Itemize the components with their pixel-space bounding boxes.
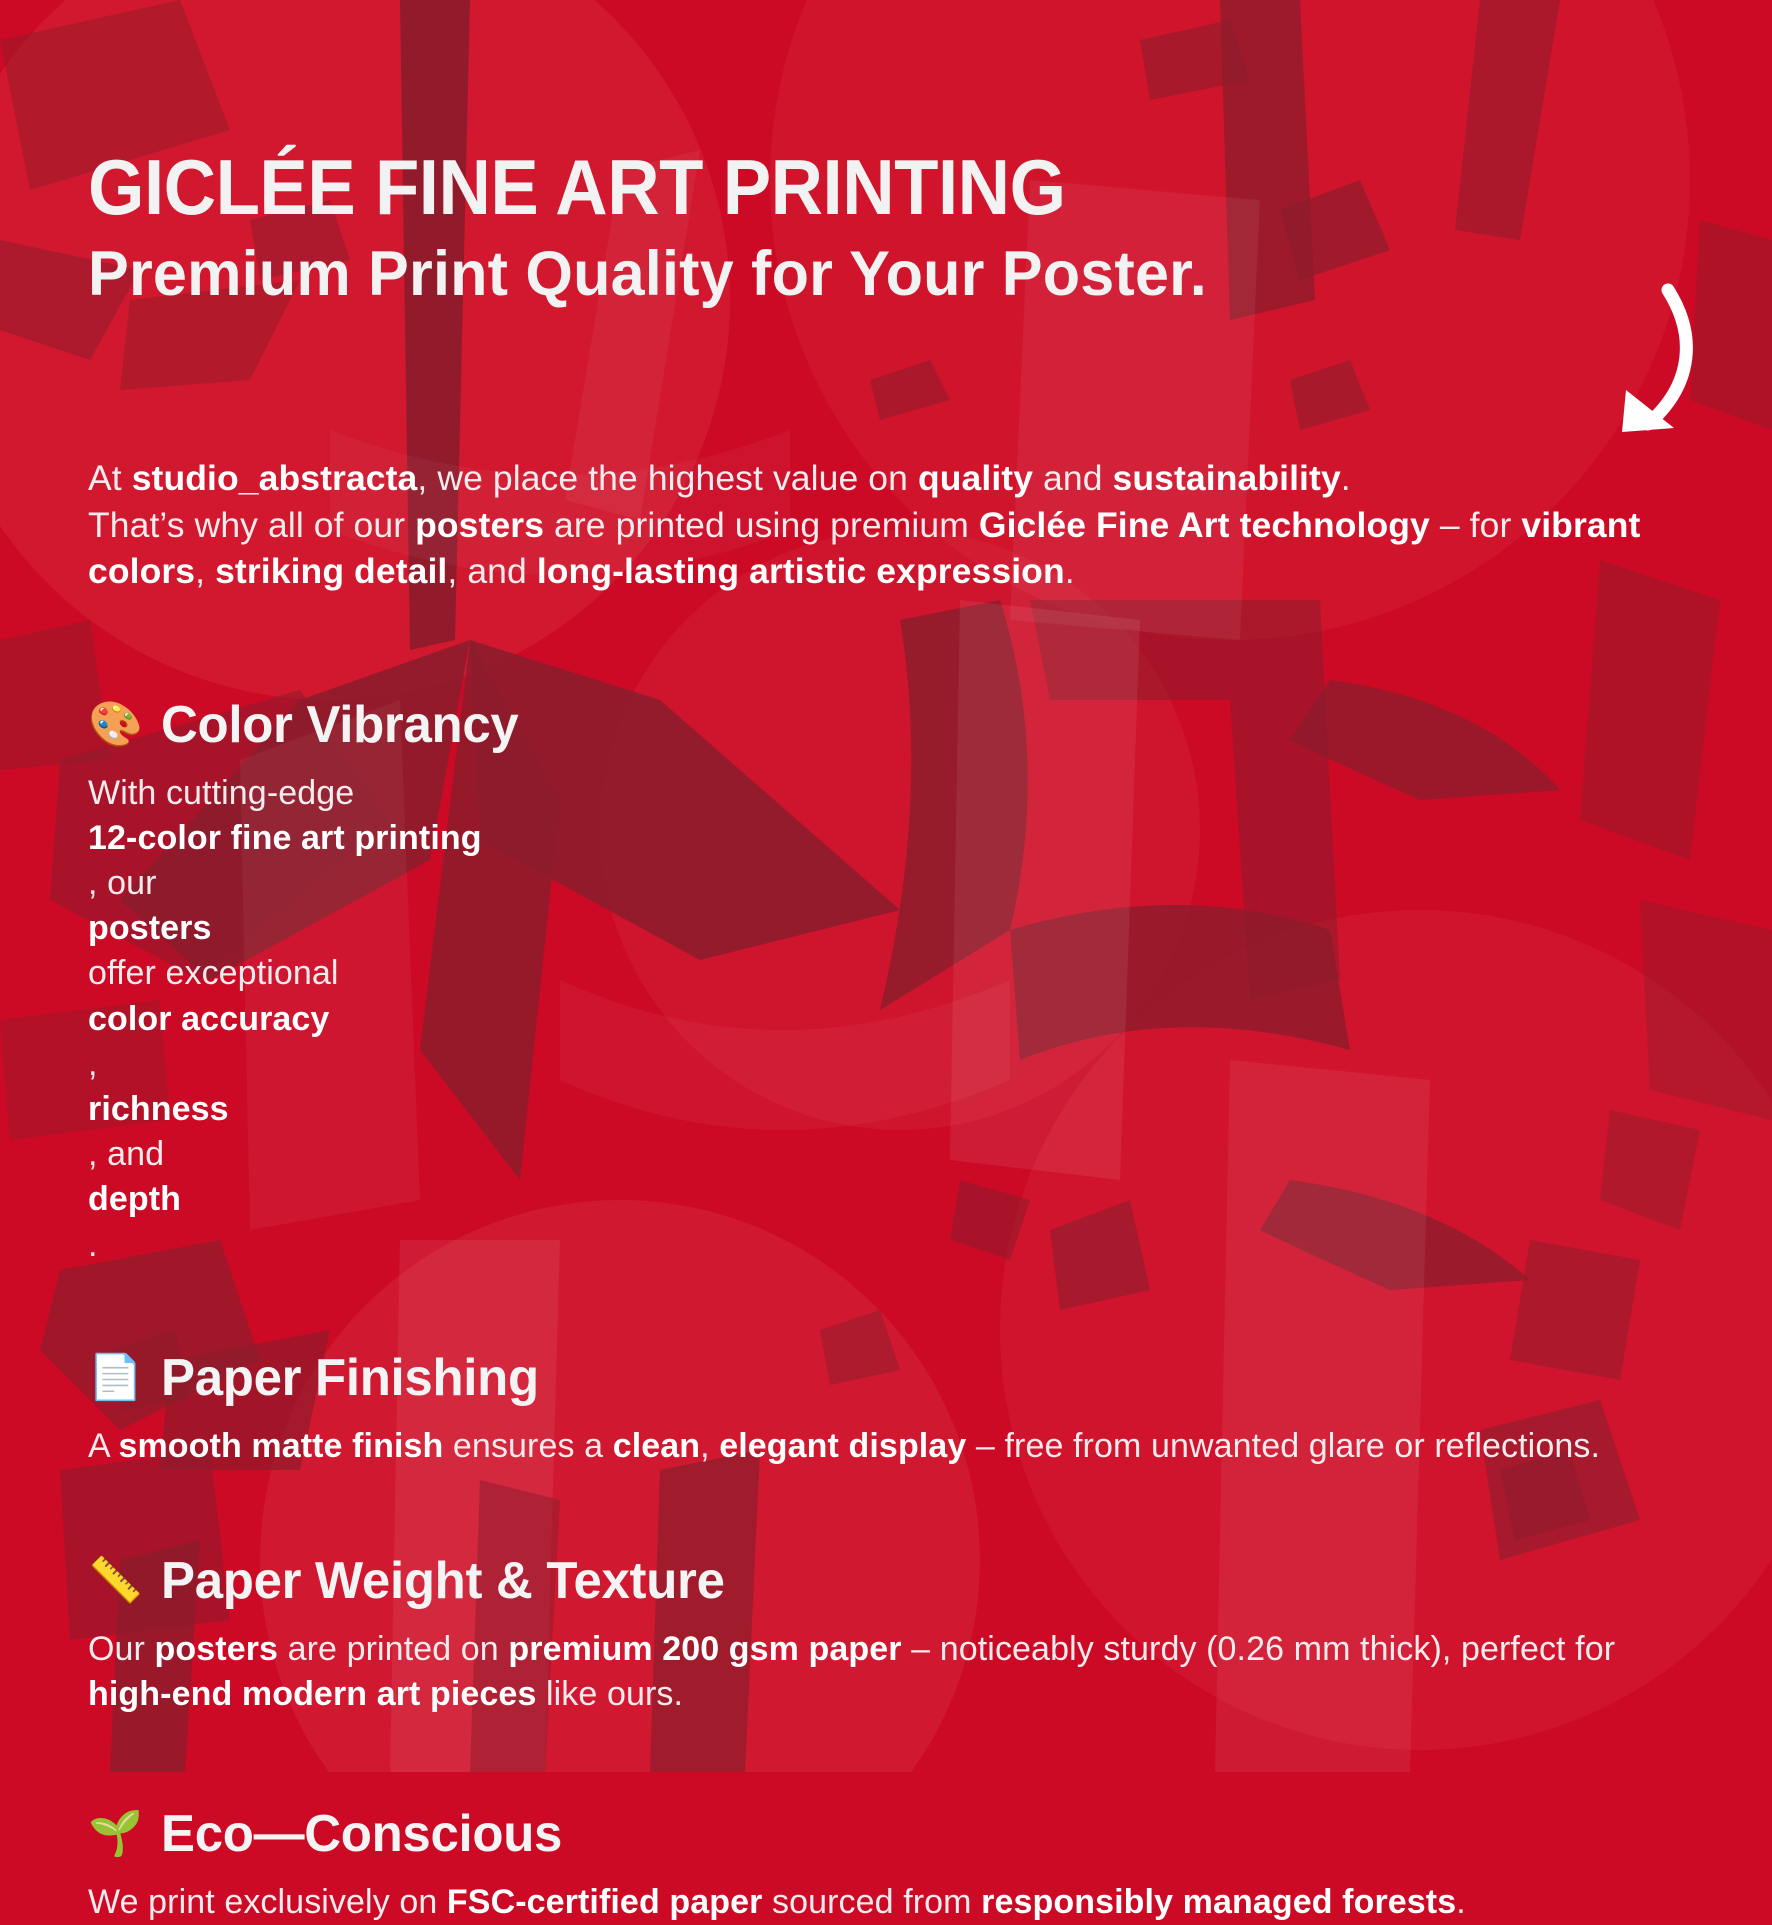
b3: color accuracy xyxy=(88,1000,329,1038)
b1: 12-color fine art printing xyxy=(88,819,482,857)
section-body-color-vibrancy: With cutting-edge 12-color fine art prin… xyxy=(88,771,1684,1268)
section-paper-finishing: 📄 Paper Finishing A smooth matte finish … xyxy=(88,1352,1684,1469)
t2: , our xyxy=(88,861,1684,906)
intro-paragraph: At studio_abstracta, we place the highes… xyxy=(88,455,1684,595)
b3: elegant display xyxy=(719,1427,966,1465)
b1: posters xyxy=(155,1630,279,1668)
intro-bold-sustainability: sustainability xyxy=(1113,458,1341,498)
intro-text-10: . xyxy=(1065,551,1075,591)
section-heading: 📏 Paper Weight & Texture xyxy=(88,1555,1684,1607)
intro-text-8: , xyxy=(195,551,215,591)
section-heading: 🎨 Color Vibrancy xyxy=(88,699,1684,751)
intro-text-7: – for xyxy=(1430,505,1521,545)
section-heading: 🌱 Eco—Conscious xyxy=(88,1808,1684,1860)
section-body-paper-weight-texture: Our posters are printed on premium 200 g… xyxy=(88,1627,1684,1717)
section-eco-conscious: 🌱 Eco—Conscious We print exclusively on … xyxy=(88,1808,1684,1925)
poster-content: GICLÉE FINE ART PRINTING Premium Print Q… xyxy=(0,0,1772,1772)
section-body-paper-finishing: A smooth matte finish ensures a clean, e… xyxy=(88,1424,1684,1469)
t1: With cutting-edge xyxy=(88,771,1684,816)
t3: – noticeably sturdy (0.26 mm thick), per… xyxy=(902,1630,1616,1668)
intro-text-1: At xyxy=(88,458,132,498)
section-title-paper-weight-texture: Paper Weight & Texture xyxy=(161,1555,725,1607)
straight-ruler-icon: 📏 xyxy=(88,1559,143,1603)
section-paper-weight-texture: 📏 Paper Weight & Texture Our posters are… xyxy=(88,1555,1684,1717)
b1: smooth matte finish xyxy=(118,1427,443,1465)
t4: like ours. xyxy=(536,1675,683,1713)
b3: high-end modern art pieces xyxy=(88,1675,536,1713)
intro-bold-striking: striking detail xyxy=(215,551,447,591)
b2: premium 200 gsm paper xyxy=(508,1630,901,1668)
section-color-vibrancy: 🎨 Color Vibrancy With cutting-edge 12-co… xyxy=(88,699,1684,1268)
curved-arrow-icon xyxy=(1586,272,1772,462)
intro-bold-giclee: Giclée Fine Art technology xyxy=(979,505,1430,545)
t2: sourced from xyxy=(762,1883,981,1921)
t2: are printed on xyxy=(278,1630,508,1668)
intro-text-6: are printed using premium xyxy=(544,505,979,545)
section-body-eco-conscious: We print exclusively on FSC-certified pa… xyxy=(88,1880,1684,1925)
b5: depth xyxy=(88,1180,181,1218)
b2: responsibly managed forests xyxy=(981,1883,1456,1921)
t1: Our xyxy=(88,1630,155,1668)
intro-bold-quality: quality xyxy=(918,458,1033,498)
intro-text-9: , and xyxy=(447,551,536,591)
intro-bold-longlasting: long-lasting artistic expression xyxy=(537,551,1065,591)
b4: richness xyxy=(88,1090,229,1128)
intro-text-2: , we place the highest value on xyxy=(417,458,918,498)
intro-bold-posters: posters xyxy=(415,505,544,545)
seedling-icon: 🌱 xyxy=(88,1812,143,1856)
b1: FSC-certified paper xyxy=(447,1883,763,1921)
t1: We print exclusively on xyxy=(88,1883,447,1921)
t4: – free from unwanted glare or reflection… xyxy=(966,1427,1600,1465)
page-subtitle: Premium Print Quality for Your Poster. xyxy=(88,241,1636,307)
t2: ensures a xyxy=(443,1427,612,1465)
t4: , xyxy=(88,1042,1684,1087)
section-heading: 📄 Paper Finishing xyxy=(88,1352,1684,1404)
section-title-color-vibrancy: Color Vibrancy xyxy=(161,699,518,751)
t3: . xyxy=(1456,1883,1466,1921)
brand-name: studio_abstracta xyxy=(132,458,418,498)
t3: offer exceptional xyxy=(88,951,1684,996)
intro-text-4: . xyxy=(1341,458,1351,498)
page-title: GICLÉE FINE ART PRINTING xyxy=(88,150,1572,225)
t6: . xyxy=(88,1223,1684,1268)
b2: posters xyxy=(88,909,212,947)
t1: A xyxy=(88,1427,118,1465)
t5: , and xyxy=(88,1132,1684,1177)
intro-text-5: That’s why all of our xyxy=(88,505,415,545)
b2: clean xyxy=(613,1427,700,1465)
artist-palette-icon: 🎨 xyxy=(88,703,143,747)
page-document-icon: 📄 xyxy=(88,1356,143,1400)
section-title-paper-finishing: Paper Finishing xyxy=(161,1352,539,1404)
intro-text-3: and xyxy=(1033,458,1112,498)
t3: , xyxy=(700,1427,719,1465)
section-title-eco-conscious: Eco—Conscious xyxy=(161,1808,562,1860)
